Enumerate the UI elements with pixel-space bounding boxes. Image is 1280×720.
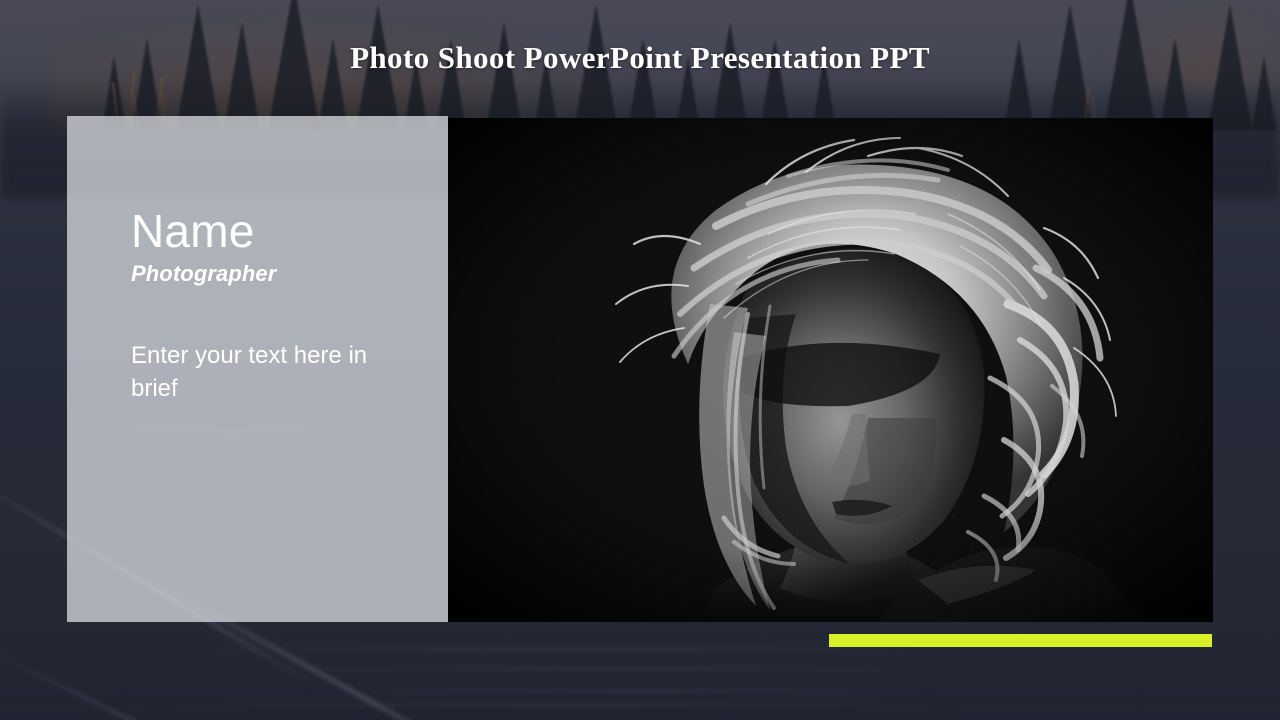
portrait-illustration — [448, 118, 1213, 622]
presentation-slide: Photo Shoot PowerPoint Presentation PPT … — [0, 0, 1280, 720]
brief-text-placeholder: Enter your text here in brief — [131, 340, 393, 404]
portrait-photo-frame — [448, 118, 1213, 622]
page-title: Photo Shoot PowerPoint Presentation PPT — [0, 40, 1280, 76]
accent-bar — [829, 634, 1212, 647]
left-text-panel: Name Photographer Enter your text here i… — [67, 116, 448, 622]
photographer-name: Name — [131, 208, 408, 256]
portrait-photo-image — [448, 118, 1213, 622]
photographer-role: Photographer — [131, 260, 408, 289]
